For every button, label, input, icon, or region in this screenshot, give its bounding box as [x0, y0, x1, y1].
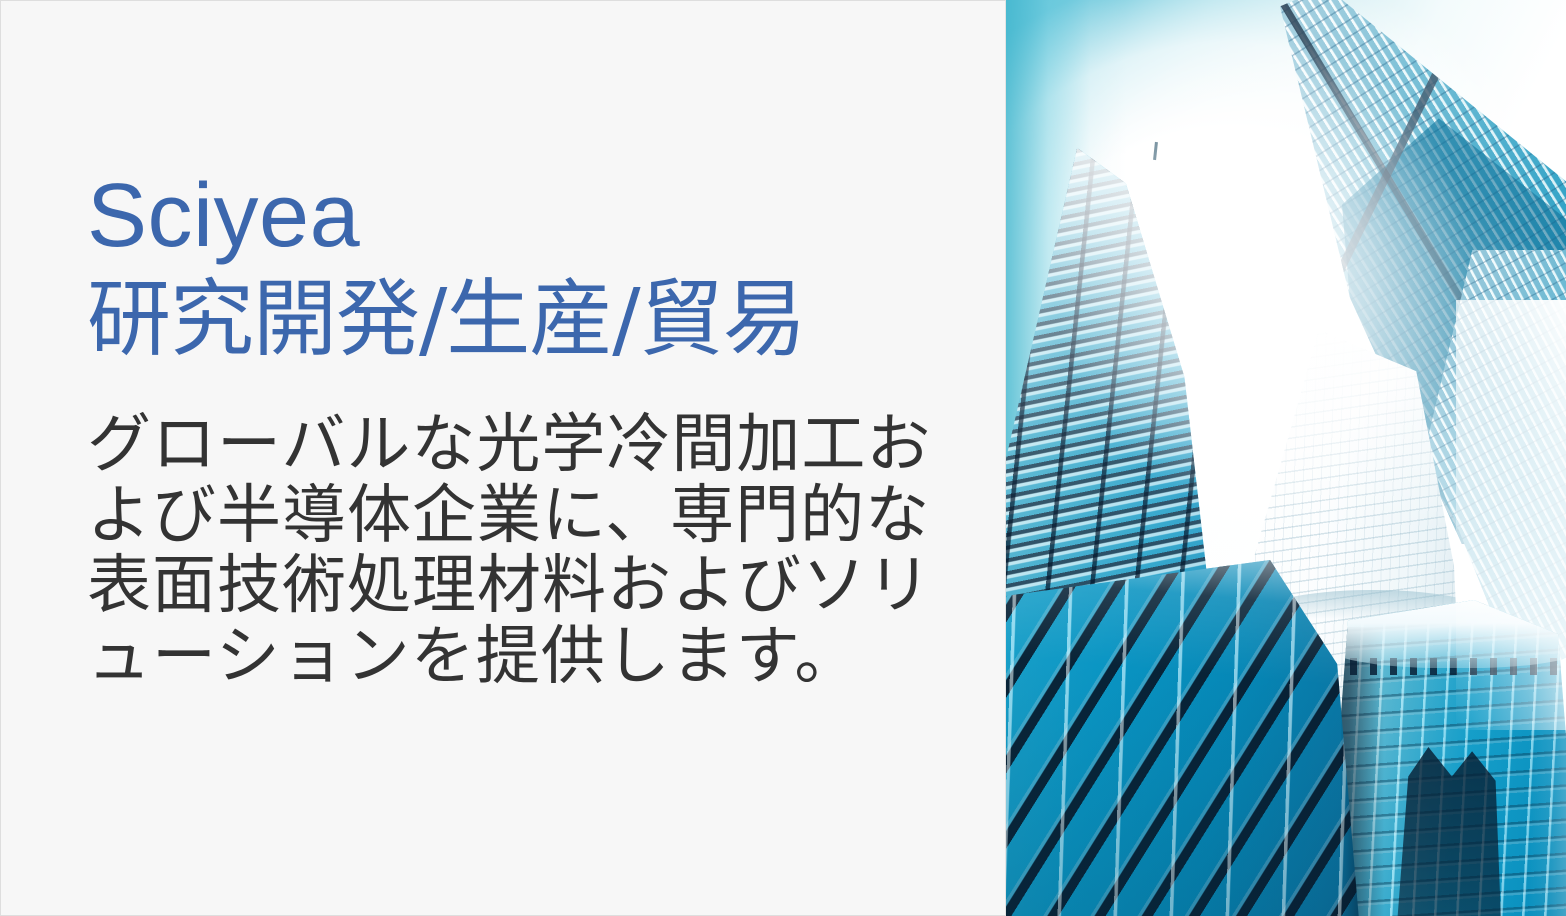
photo-panel: [1006, 0, 1566, 916]
headline: 研究開発/生産/貿易: [87, 272, 967, 366]
text-panel: Sciyea 研究開発/生産/貿易 グローバルな光学冷間加工および半導体企業に、…: [0, 0, 1006, 916]
hero-banner: Sciyea 研究開発/生産/貿易 グローバルな光学冷間加工および半導体企業に、…: [0, 0, 1566, 916]
description-text: グローバルな光学冷間加工および半導体企業に、専門的な表面技術処理材料およびソリュ…: [87, 410, 965, 692]
skyscraper-photo: [1006, 0, 1566, 916]
text-content-block: Sciyea 研究開発/生産/貿易 グローバルな光学冷間加工および半導体企業に、…: [87, 169, 967, 692]
brand-name: Sciyea: [87, 169, 967, 264]
